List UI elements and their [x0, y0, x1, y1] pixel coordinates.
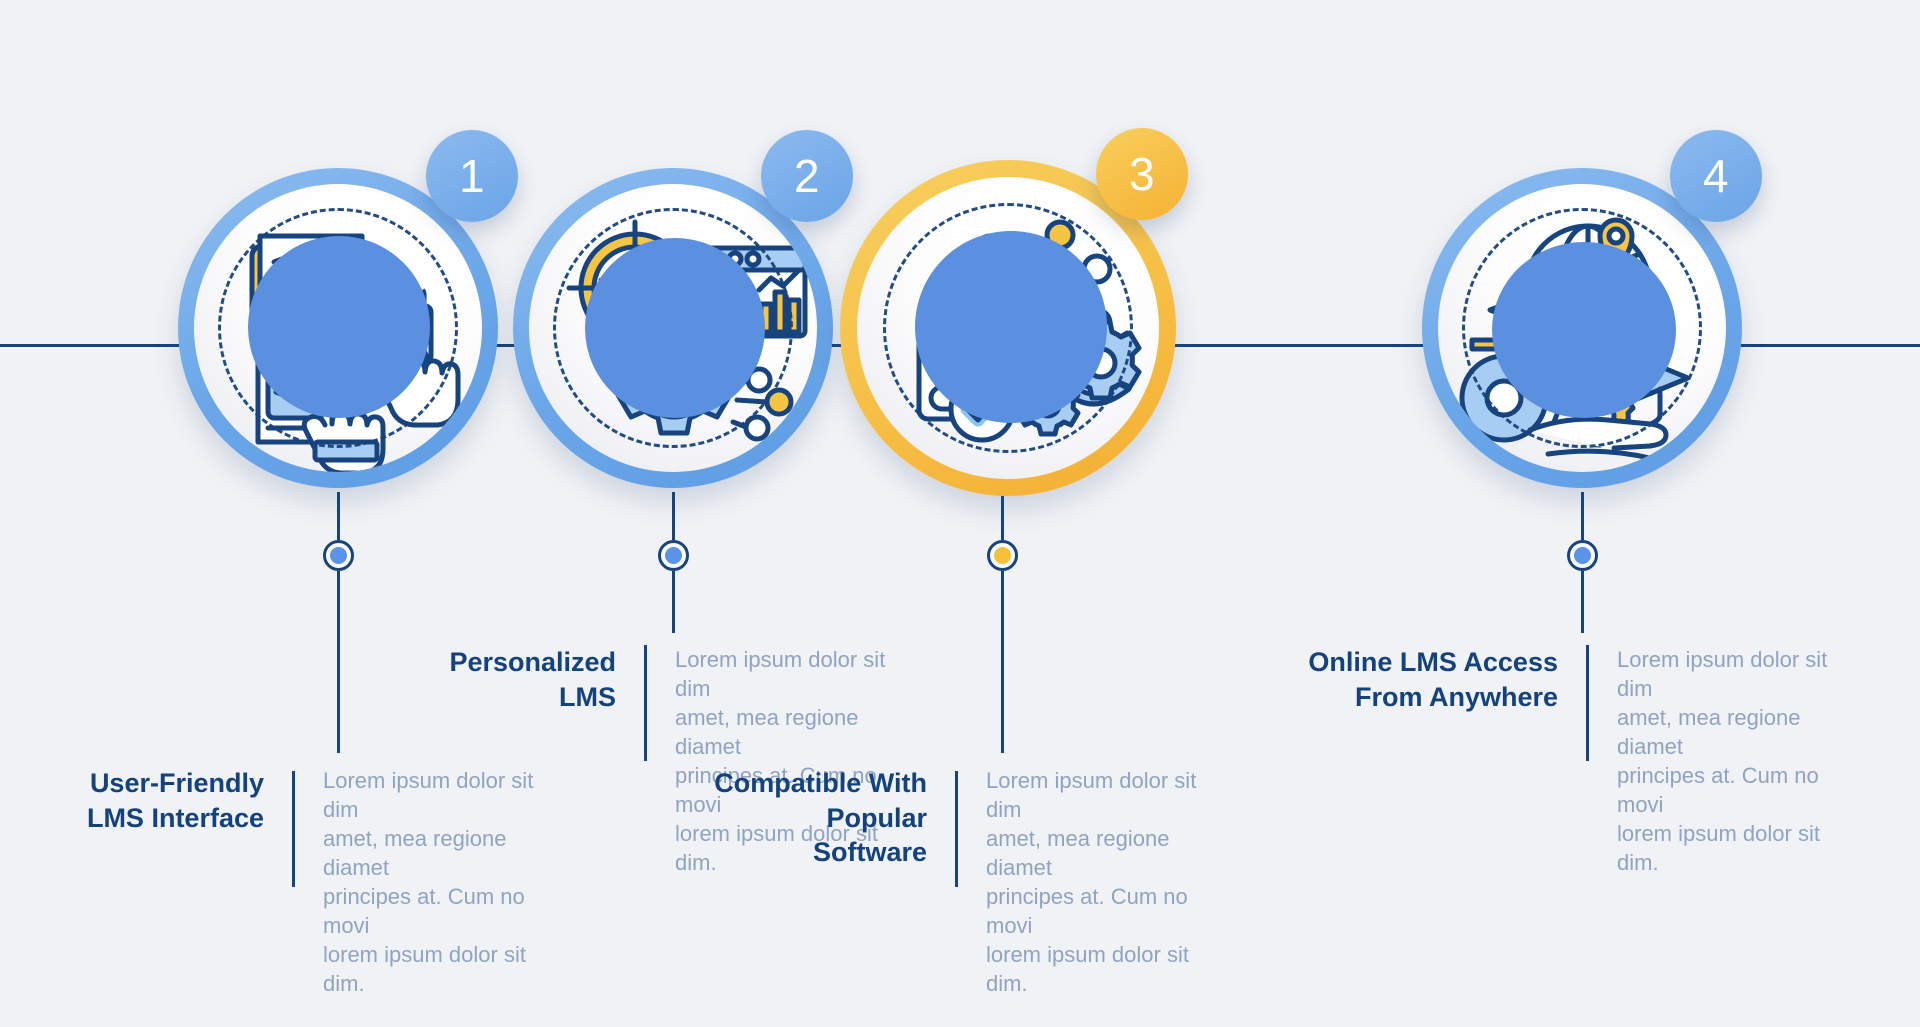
step-marker-dot-1[interactable]: [323, 540, 354, 571]
step-icon-disc-4: [1438, 184, 1726, 472]
step-title-3: Compatible With Popular Software: [712, 766, 927, 998]
step-icon-disc-3: [857, 177, 1159, 479]
stem-lower-1: [337, 571, 340, 753]
step-number: 3: [1129, 147, 1155, 201]
step-icon-disc-2: [529, 184, 817, 472]
stem-lower-2: [672, 571, 675, 633]
dot-core: [665, 547, 682, 564]
stem-upper-1: [337, 492, 340, 540]
text-separator-3: [955, 771, 958, 887]
text-separator-4: [1586, 645, 1589, 761]
step-marker-dot-3[interactable]: [987, 540, 1018, 571]
text-separator-1: [292, 771, 295, 887]
stem-upper-4: [1581, 492, 1584, 540]
dot-core: [994, 547, 1011, 564]
step-badge-3: 3: [1096, 128, 1188, 220]
stem-upper-3: [1001, 496, 1004, 540]
step-text-4: Online LMS Access From Anywhere Lorem ip…: [1258, 645, 1867, 877]
step-title-2: Personalized LMS: [420, 645, 616, 877]
step-icon-disc-1: [194, 184, 482, 472]
dot-core: [330, 547, 347, 564]
text-separator-2: [644, 645, 647, 761]
step-number: 1: [459, 149, 485, 203]
dashed-orbit-ring: [553, 208, 793, 448]
step-text-3: Compatible With Popular Software Lorem i…: [712, 766, 1236, 998]
stem-lower-3: [1001, 571, 1004, 753]
stem-upper-2: [672, 492, 675, 540]
dot-core: [1574, 547, 1591, 564]
step-number: 2: [794, 149, 820, 203]
infographic-canvas: 1 User-Friendly LMS Interface Lorem ipsu…: [0, 0, 1920, 1027]
dashed-orbit-ring: [218, 208, 458, 448]
step-badge-4: 4: [1670, 130, 1762, 222]
step-description-4: Lorem ipsum dolor sit dim amet, mea regi…: [1617, 645, 1867, 877]
step-marker-dot-2[interactable]: [658, 540, 689, 571]
dashed-orbit-ring: [883, 203, 1133, 453]
step-title-1: User-Friendly LMS Interface: [84, 766, 264, 998]
step-description-3: Lorem ipsum dolor sit dim amet, mea regi…: [986, 766, 1236, 998]
step-title-4: Online LMS Access From Anywhere: [1258, 645, 1558, 877]
stem-lower-4: [1581, 571, 1584, 633]
step-number: 4: [1703, 149, 1729, 203]
dashed-orbit-ring: [1462, 208, 1702, 448]
step-marker-dot-4[interactable]: [1567, 540, 1598, 571]
